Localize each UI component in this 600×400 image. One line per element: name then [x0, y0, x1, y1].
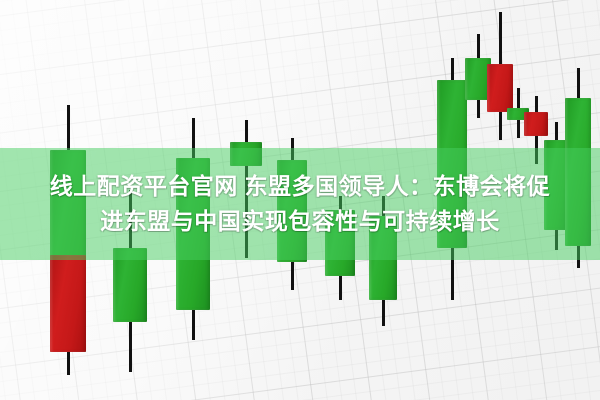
headline-line-2: 进东盟与中国实现包容性与可持续增长 — [100, 204, 500, 239]
candlestick-headline-banner: 线上配资平台官网 东盟多国领导人：东博会将促 进东盟与中国实现包容性与可持续增长 — [0, 0, 600, 400]
headline-overlay-band: 线上配资平台官网 东盟多国领导人：东博会将促 进东盟与中国实现包容性与可持续增长 — [0, 148, 600, 260]
headline-line-1: 线上配资平台官网 东盟多国领导人：东博会将促 — [50, 169, 550, 204]
candle-body-down — [50, 255, 86, 352]
